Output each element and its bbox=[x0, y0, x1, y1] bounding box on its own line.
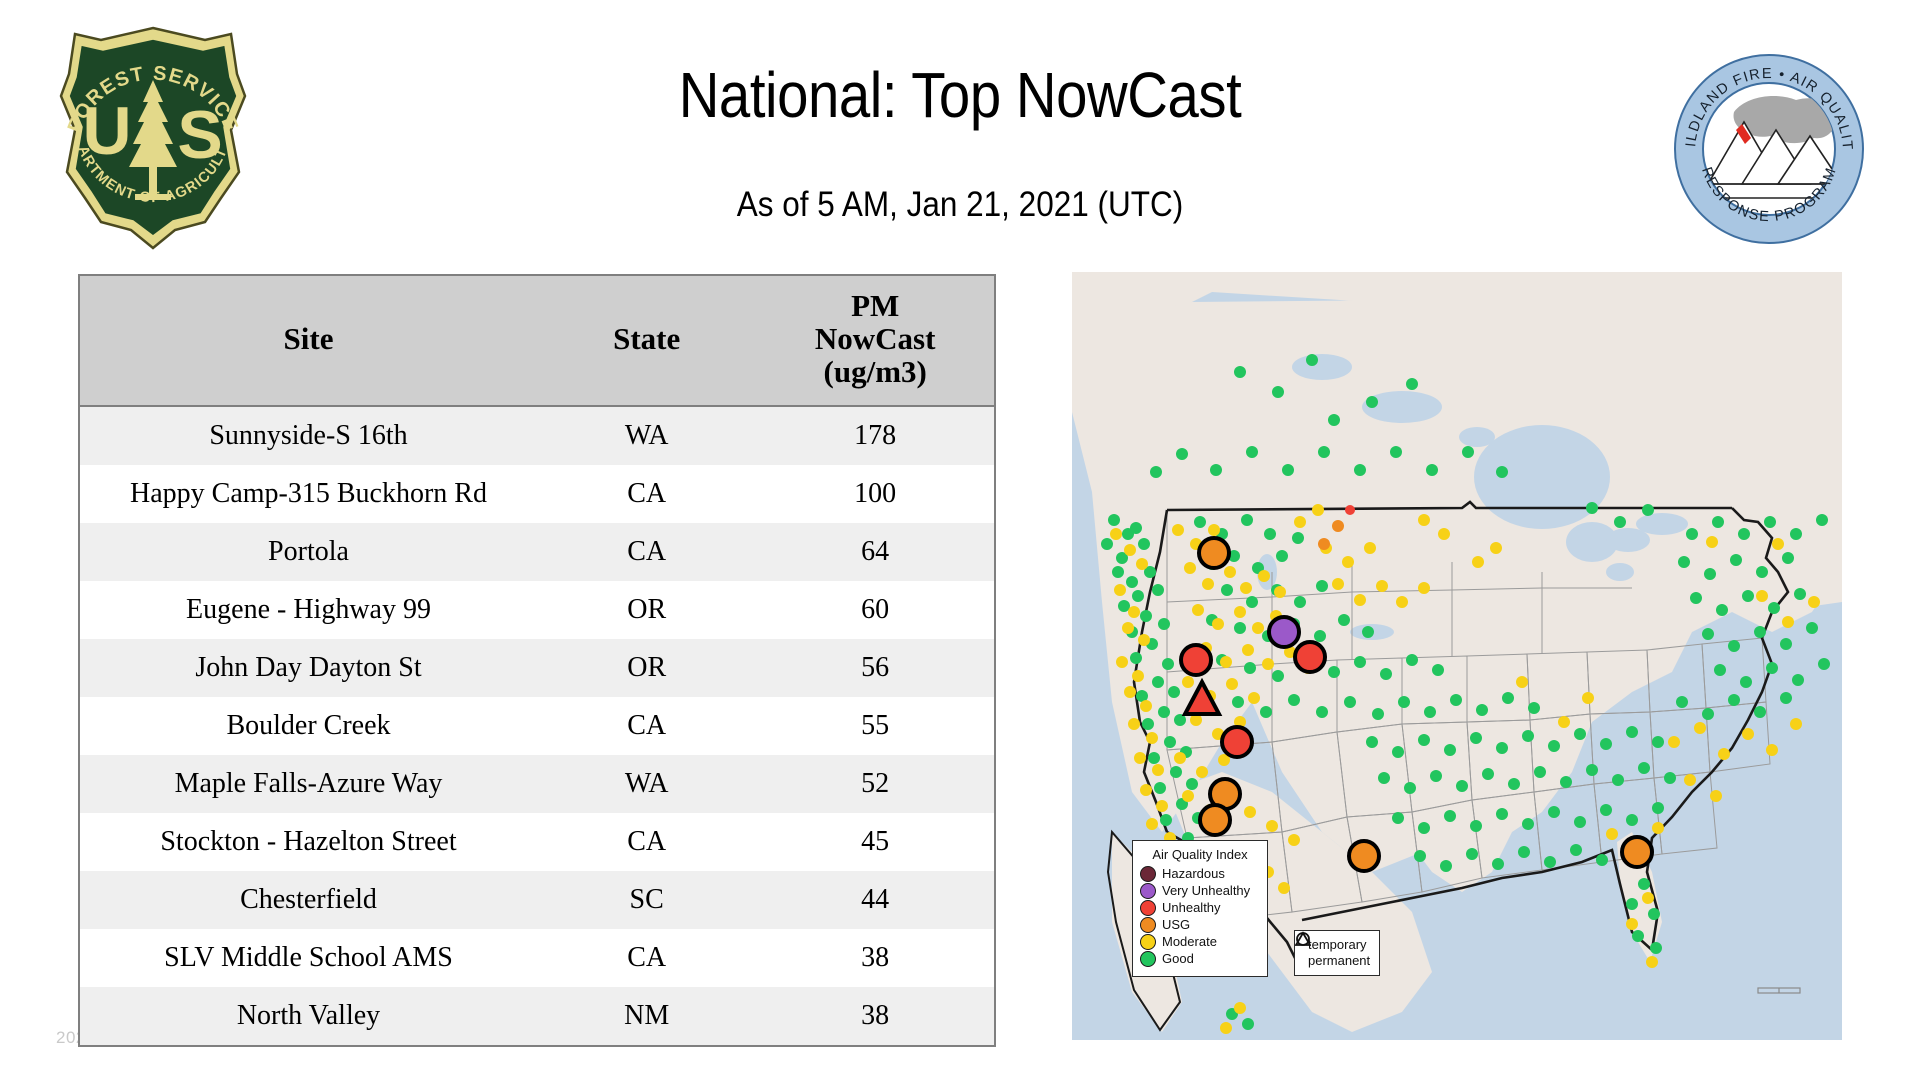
legend-label-temporary: temporary bbox=[1308, 937, 1367, 952]
legend-label-very-unhealthy: Very Unhealthy bbox=[1162, 884, 1250, 898]
cell-pm: 38 bbox=[756, 929, 994, 987]
top-nowcast-table: Site State PM NowCast (ug/m3) Sunnyside-… bbox=[78, 274, 996, 1047]
cell-site: Portola bbox=[80, 523, 537, 581]
legend-swatch-good bbox=[1140, 951, 1156, 967]
table-row: North ValleyNM38 bbox=[80, 987, 994, 1045]
legend-item-very-unhealthy: Very Unhealthy bbox=[1140, 883, 1260, 899]
legend-item-permanent: permanent bbox=[1301, 953, 1370, 968]
cell-site: Stockton - Hazelton Street bbox=[80, 813, 537, 871]
legend-label-usg: USG bbox=[1162, 918, 1190, 932]
table-row: SLV Middle School AMSCA38 bbox=[80, 929, 994, 987]
cell-state: CA bbox=[537, 465, 756, 523]
cell-state: WA bbox=[537, 755, 756, 813]
legend-title: Air Quality Index bbox=[1140, 847, 1260, 862]
legend-swatch-moderate bbox=[1140, 934, 1156, 950]
table-row: Maple Falls-Azure WayWA52 bbox=[80, 755, 994, 813]
legend-label-permanent: permanent bbox=[1308, 953, 1370, 968]
cell-pm: 56 bbox=[756, 639, 994, 697]
cell-state: CA bbox=[537, 813, 756, 871]
cell-state: CA bbox=[537, 697, 756, 755]
legend-swatch-very-unhealthy bbox=[1140, 883, 1156, 899]
legend-item-moderate: Moderate bbox=[1140, 934, 1260, 950]
cell-site: North Valley bbox=[80, 987, 537, 1045]
cell-pm: 38 bbox=[756, 987, 994, 1045]
legend-item-hazardous: Hazardous bbox=[1140, 866, 1260, 882]
table-row: ChesterfieldSC44 bbox=[80, 871, 994, 929]
table-row: Happy Camp-315 Buckhorn RdCA100 bbox=[80, 465, 994, 523]
table-row: John Day Dayton StOR56 bbox=[80, 639, 994, 697]
cell-state: SC bbox=[537, 871, 756, 929]
cell-site: Boulder Creek bbox=[80, 697, 537, 755]
cell-pm: 64 bbox=[756, 523, 994, 581]
marker-happy-camp-ca bbox=[1269, 617, 1299, 647]
cell-site: Happy Camp-315 Buckhorn Rd bbox=[80, 465, 537, 523]
cell-pm: 45 bbox=[756, 813, 994, 871]
cell-pm: 100 bbox=[756, 465, 994, 523]
marker-sunnyside-wa bbox=[1199, 538, 1229, 568]
cell-state: OR bbox=[537, 581, 756, 639]
marker-chesterfield-sc bbox=[1622, 837, 1652, 867]
legend-item-good: Good bbox=[1140, 951, 1260, 967]
marker-north-valley-nm bbox=[1349, 841, 1379, 871]
cell-site: SLV Middle School AMS bbox=[80, 929, 537, 987]
column-header-site[interactable]: Site bbox=[80, 276, 537, 406]
table-row: Boulder CreekCA55 bbox=[80, 697, 994, 755]
cell-state: OR bbox=[537, 639, 756, 697]
pm-header-line-3: (ug/m3) bbox=[824, 354, 927, 389]
marker-stockton-ca bbox=[1200, 805, 1230, 835]
cell-state: CA bbox=[537, 523, 756, 581]
legend-label-hazardous: Hazardous bbox=[1162, 867, 1225, 881]
national-aqi-map[interactable]: Air Quality Index Hazardous Very Unhealt… bbox=[1072, 272, 1842, 1040]
cell-pm: 60 bbox=[756, 581, 994, 639]
table-row: Eugene - Highway 99OR60 bbox=[80, 581, 994, 639]
wfaqrp-logo: WILDLAND FIRE • AIR QUALITY RESPONSE PRO… bbox=[1672, 52, 1866, 246]
legend-swatch-unhealthy bbox=[1140, 900, 1156, 916]
cell-pm: 44 bbox=[756, 871, 994, 929]
pm-header-line-1: PM bbox=[851, 288, 899, 323]
legend-item-unhealthy: Unhealthy bbox=[1140, 900, 1260, 916]
cell-pm: 52 bbox=[756, 755, 994, 813]
marker-portola-ca bbox=[1295, 642, 1325, 672]
cell-pm: 55 bbox=[756, 697, 994, 755]
table-row: Stockton - Hazelton StreetCA45 bbox=[80, 813, 994, 871]
cell-state: CA bbox=[537, 929, 756, 987]
table-row: PortolaCA64 bbox=[80, 523, 994, 581]
table-row: Sunnyside-S 16thWA178 bbox=[80, 406, 994, 465]
legend-swatch-usg bbox=[1140, 917, 1156, 933]
cell-pm: 178 bbox=[756, 406, 994, 465]
column-header-pm-nowcast[interactable]: PM NowCast (ug/m3) bbox=[756, 276, 994, 406]
marker-boulder-creek-ca bbox=[1222, 727, 1252, 757]
marker-eugene-or bbox=[1181, 645, 1211, 675]
legend-swatch-hazardous bbox=[1140, 866, 1156, 882]
column-header-state[interactable]: State bbox=[537, 276, 756, 406]
cell-site: Chesterfield bbox=[80, 871, 537, 929]
legend-label-unhealthy: Unhealthy bbox=[1162, 901, 1221, 915]
table-header-row: Site State PM NowCast (ug/m3) bbox=[80, 276, 994, 406]
legend-label-moderate: Moderate bbox=[1162, 935, 1217, 949]
page-title: National: Top NowCast bbox=[115, 58, 1805, 132]
map-legend-aqi: Air Quality Index Hazardous Very Unhealt… bbox=[1132, 840, 1268, 977]
cell-site: Maple Falls-Azure Way bbox=[80, 755, 537, 813]
cell-site: Sunnyside-S 16th bbox=[80, 406, 537, 465]
cell-site: John Day Dayton St bbox=[80, 639, 537, 697]
legend-item-usg: USG bbox=[1140, 917, 1260, 933]
pm-header-line-2: NowCast bbox=[815, 321, 936, 356]
table-body: Sunnyside-S 16thWA178 Happy Camp-315 Buc… bbox=[80, 406, 994, 1045]
cell-state: NM bbox=[537, 987, 756, 1045]
legend-label-good: Good bbox=[1162, 952, 1194, 966]
page-subtitle-timestamp: As of 5 AM, Jan 21, 2021 (UTC) bbox=[96, 185, 1824, 225]
cell-site: Eugene - Highway 99 bbox=[80, 581, 537, 639]
map-legend-monitor-type: temporary permanent bbox=[1294, 930, 1380, 976]
cell-state: WA bbox=[537, 406, 756, 465]
legend-item-temporary: temporary bbox=[1301, 937, 1370, 952]
